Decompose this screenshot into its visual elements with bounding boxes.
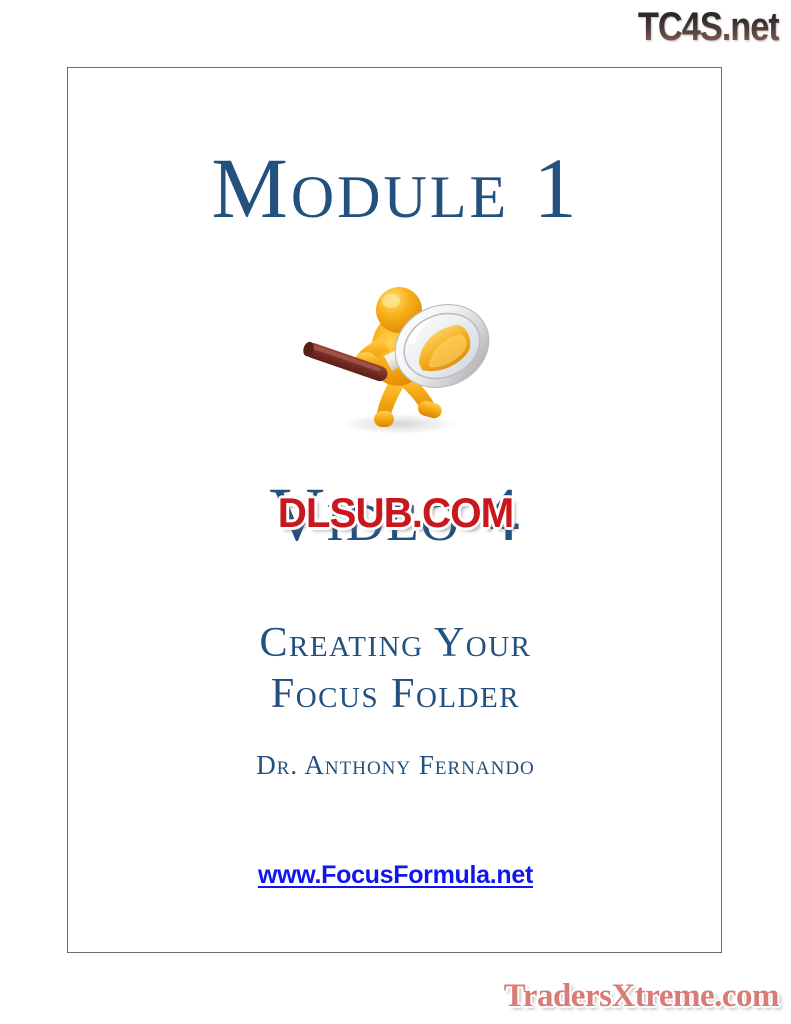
magnifying-glass-figure-icon [296,272,496,437]
cover-subtitle-line-1: Creating Your [0,618,791,669]
cover-subtitle: Creating Your Focus Folder [0,618,791,720]
website-link[interactable]: www.FocusFormula.net [258,861,533,889]
author-name: Dr. Anthony Fernando [0,750,791,781]
video-title-block: Video 4 DLSUB.COM [0,477,791,577]
tradersxtreme-watermark: TradersXtreme.com [504,978,779,1014]
module-title: Module 1 [0,143,791,233]
dlsub-watermark: DLSUB.COM [16,489,775,537]
website-link-container: www.FocusFormula.net [0,861,791,890]
tc4s-watermark: TC4S.net [638,4,779,50]
cover-subtitle-line-2: Focus Folder [0,669,791,720]
